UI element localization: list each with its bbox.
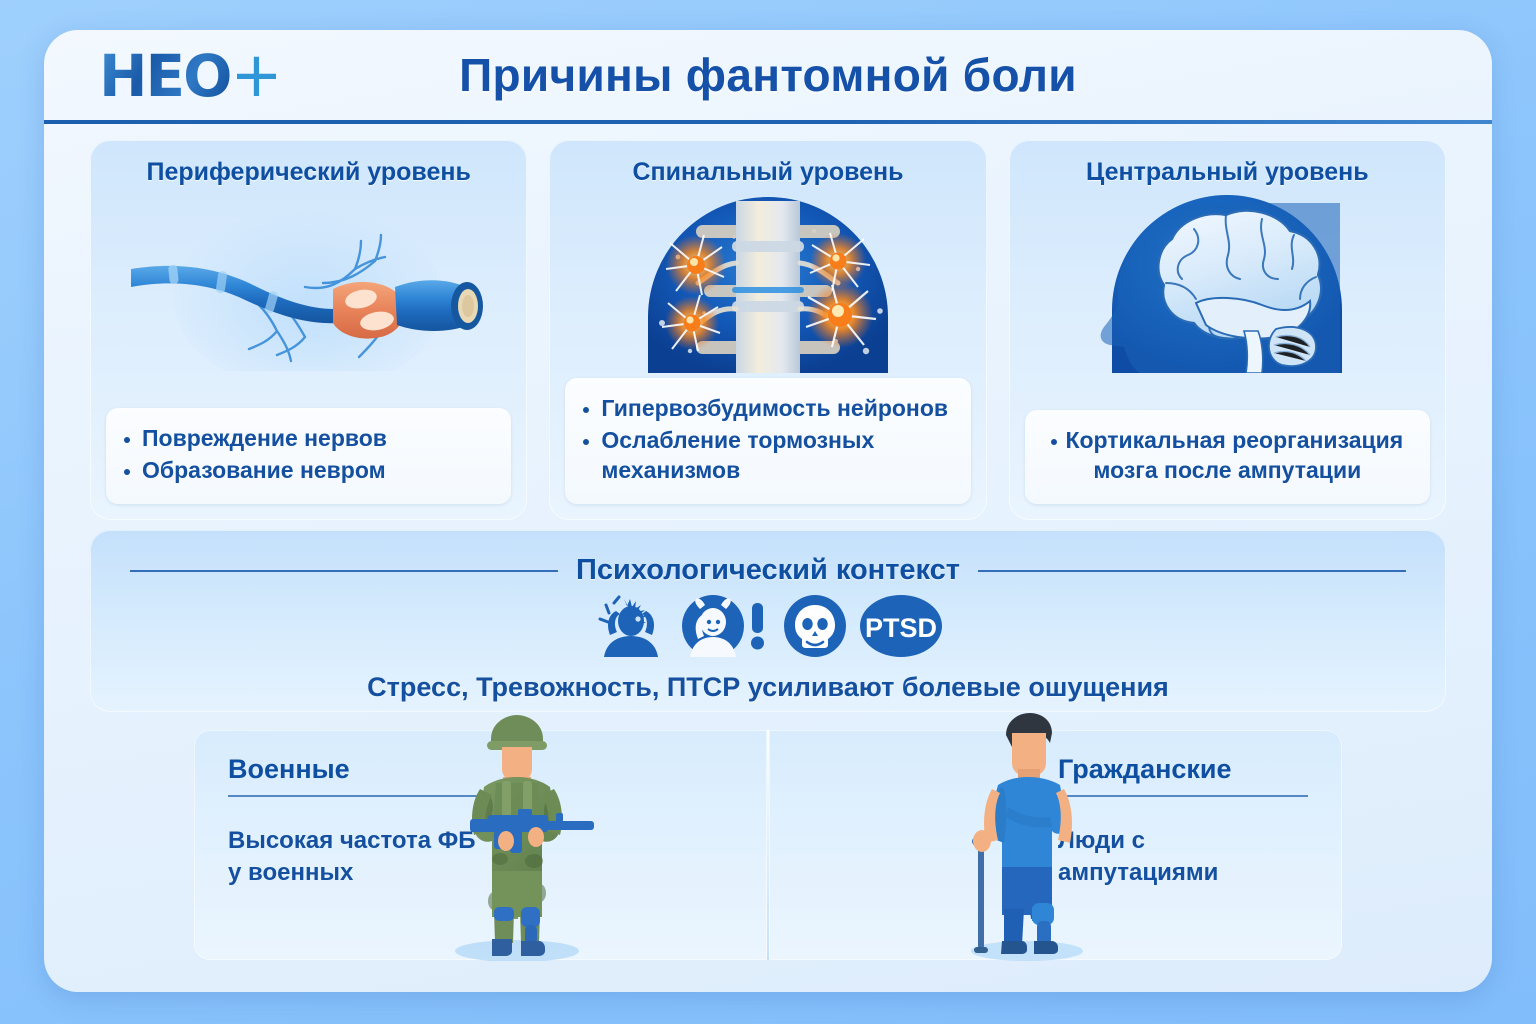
list-item: Ослабление тормозных механизмов: [579, 426, 956, 486]
soldier-figure: [422, 711, 612, 966]
spine-neurons-illustration: [549, 191, 986, 377]
list-item: Повреждение нервов: [120, 424, 497, 454]
comparison-civilian[interactable]: Гражданские Люди с ампутациями: [769, 730, 1342, 960]
ptsd-badge-icon[interactable]: PTSD: [860, 595, 942, 662]
comparison-military[interactable]: Военные Высокая частота ФБ у военных: [194, 730, 767, 960]
bullet-text: Повреждение нервов: [142, 425, 387, 451]
bullet-text: Ослабление тормозных механизмов: [601, 427, 874, 483]
infographic-root: НЕО+ Причины фантомной боли Периферическ…: [0, 0, 1536, 1024]
card-bullet-list: Кортикальная реорганизация мозга после а…: [1025, 410, 1430, 504]
psychological-context-title: Психологический контекст: [576, 554, 960, 587]
psychological-icon-row: PTSD: [90, 595, 1446, 662]
card-peripheral-level[interactable]: Периферический уровень: [90, 140, 527, 520]
card-spinal-level[interactable]: Спинальный уровень: [549, 140, 986, 520]
card-title: Периферический уровень: [90, 158, 527, 187]
civilian-figure: [942, 711, 1112, 966]
ptsd-label: PTSD: [865, 613, 937, 643]
list-item: Кортикальная реорганизация мозга после а…: [1039, 426, 1416, 486]
list-item: Образование невром: [120, 456, 497, 486]
nerve-illustration: [90, 191, 527, 377]
header: НЕО+ Причины фантомной боли: [44, 30, 1492, 122]
header-divider: [44, 120, 1492, 124]
psychological-context-note: Стресс, Тревожность, ПТСР усиливают боле…: [90, 672, 1446, 703]
psychological-context-header: Психологический контекст: [90, 530, 1446, 587]
card-central-level[interactable]: Центральный уровень: [1009, 140, 1446, 520]
skull-icon[interactable]: [784, 595, 846, 662]
level-cards: Периферический уровень: [90, 140, 1446, 520]
anxiety-person-icon[interactable]: [682, 595, 770, 662]
bullet-text: Образование невром: [142, 457, 386, 483]
card-title: Спинальный уровень: [549, 158, 986, 187]
header-rule-left: [130, 570, 558, 572]
bullet-dot: [1051, 439, 1057, 445]
card-title: Центральный уровень: [1009, 158, 1446, 187]
card-bullet-list: Гипервозбудимость нейронов Ослабление то…: [565, 378, 970, 504]
bullet-dot: [583, 407, 589, 413]
header-rule-right: [978, 570, 1406, 572]
bullet-text: Гипервозбудимость нейронов: [601, 395, 948, 421]
brain-illustration: [1009, 191, 1446, 377]
bullet-dot: [124, 437, 130, 443]
page-title: Причины фантомной боли: [44, 48, 1492, 102]
psychological-context-section: Психологический контекст: [90, 530, 1446, 712]
bullet-text: Кортикальная реорганизация мозга после а…: [1065, 427, 1403, 483]
list-item: Гипервозбудимость нейронов: [579, 394, 956, 424]
main-panel: НЕО+ Причины фантомной боли Периферическ…: [44, 30, 1492, 992]
bullet-dot: [583, 439, 589, 445]
bullet-dot: [124, 469, 130, 475]
comparison-section: Военные Высокая частота ФБ у военных: [194, 730, 1342, 960]
card-bullet-list: Повреждение нервов Образование невром: [106, 408, 511, 504]
stress-person-icon[interactable]: [594, 595, 668, 662]
